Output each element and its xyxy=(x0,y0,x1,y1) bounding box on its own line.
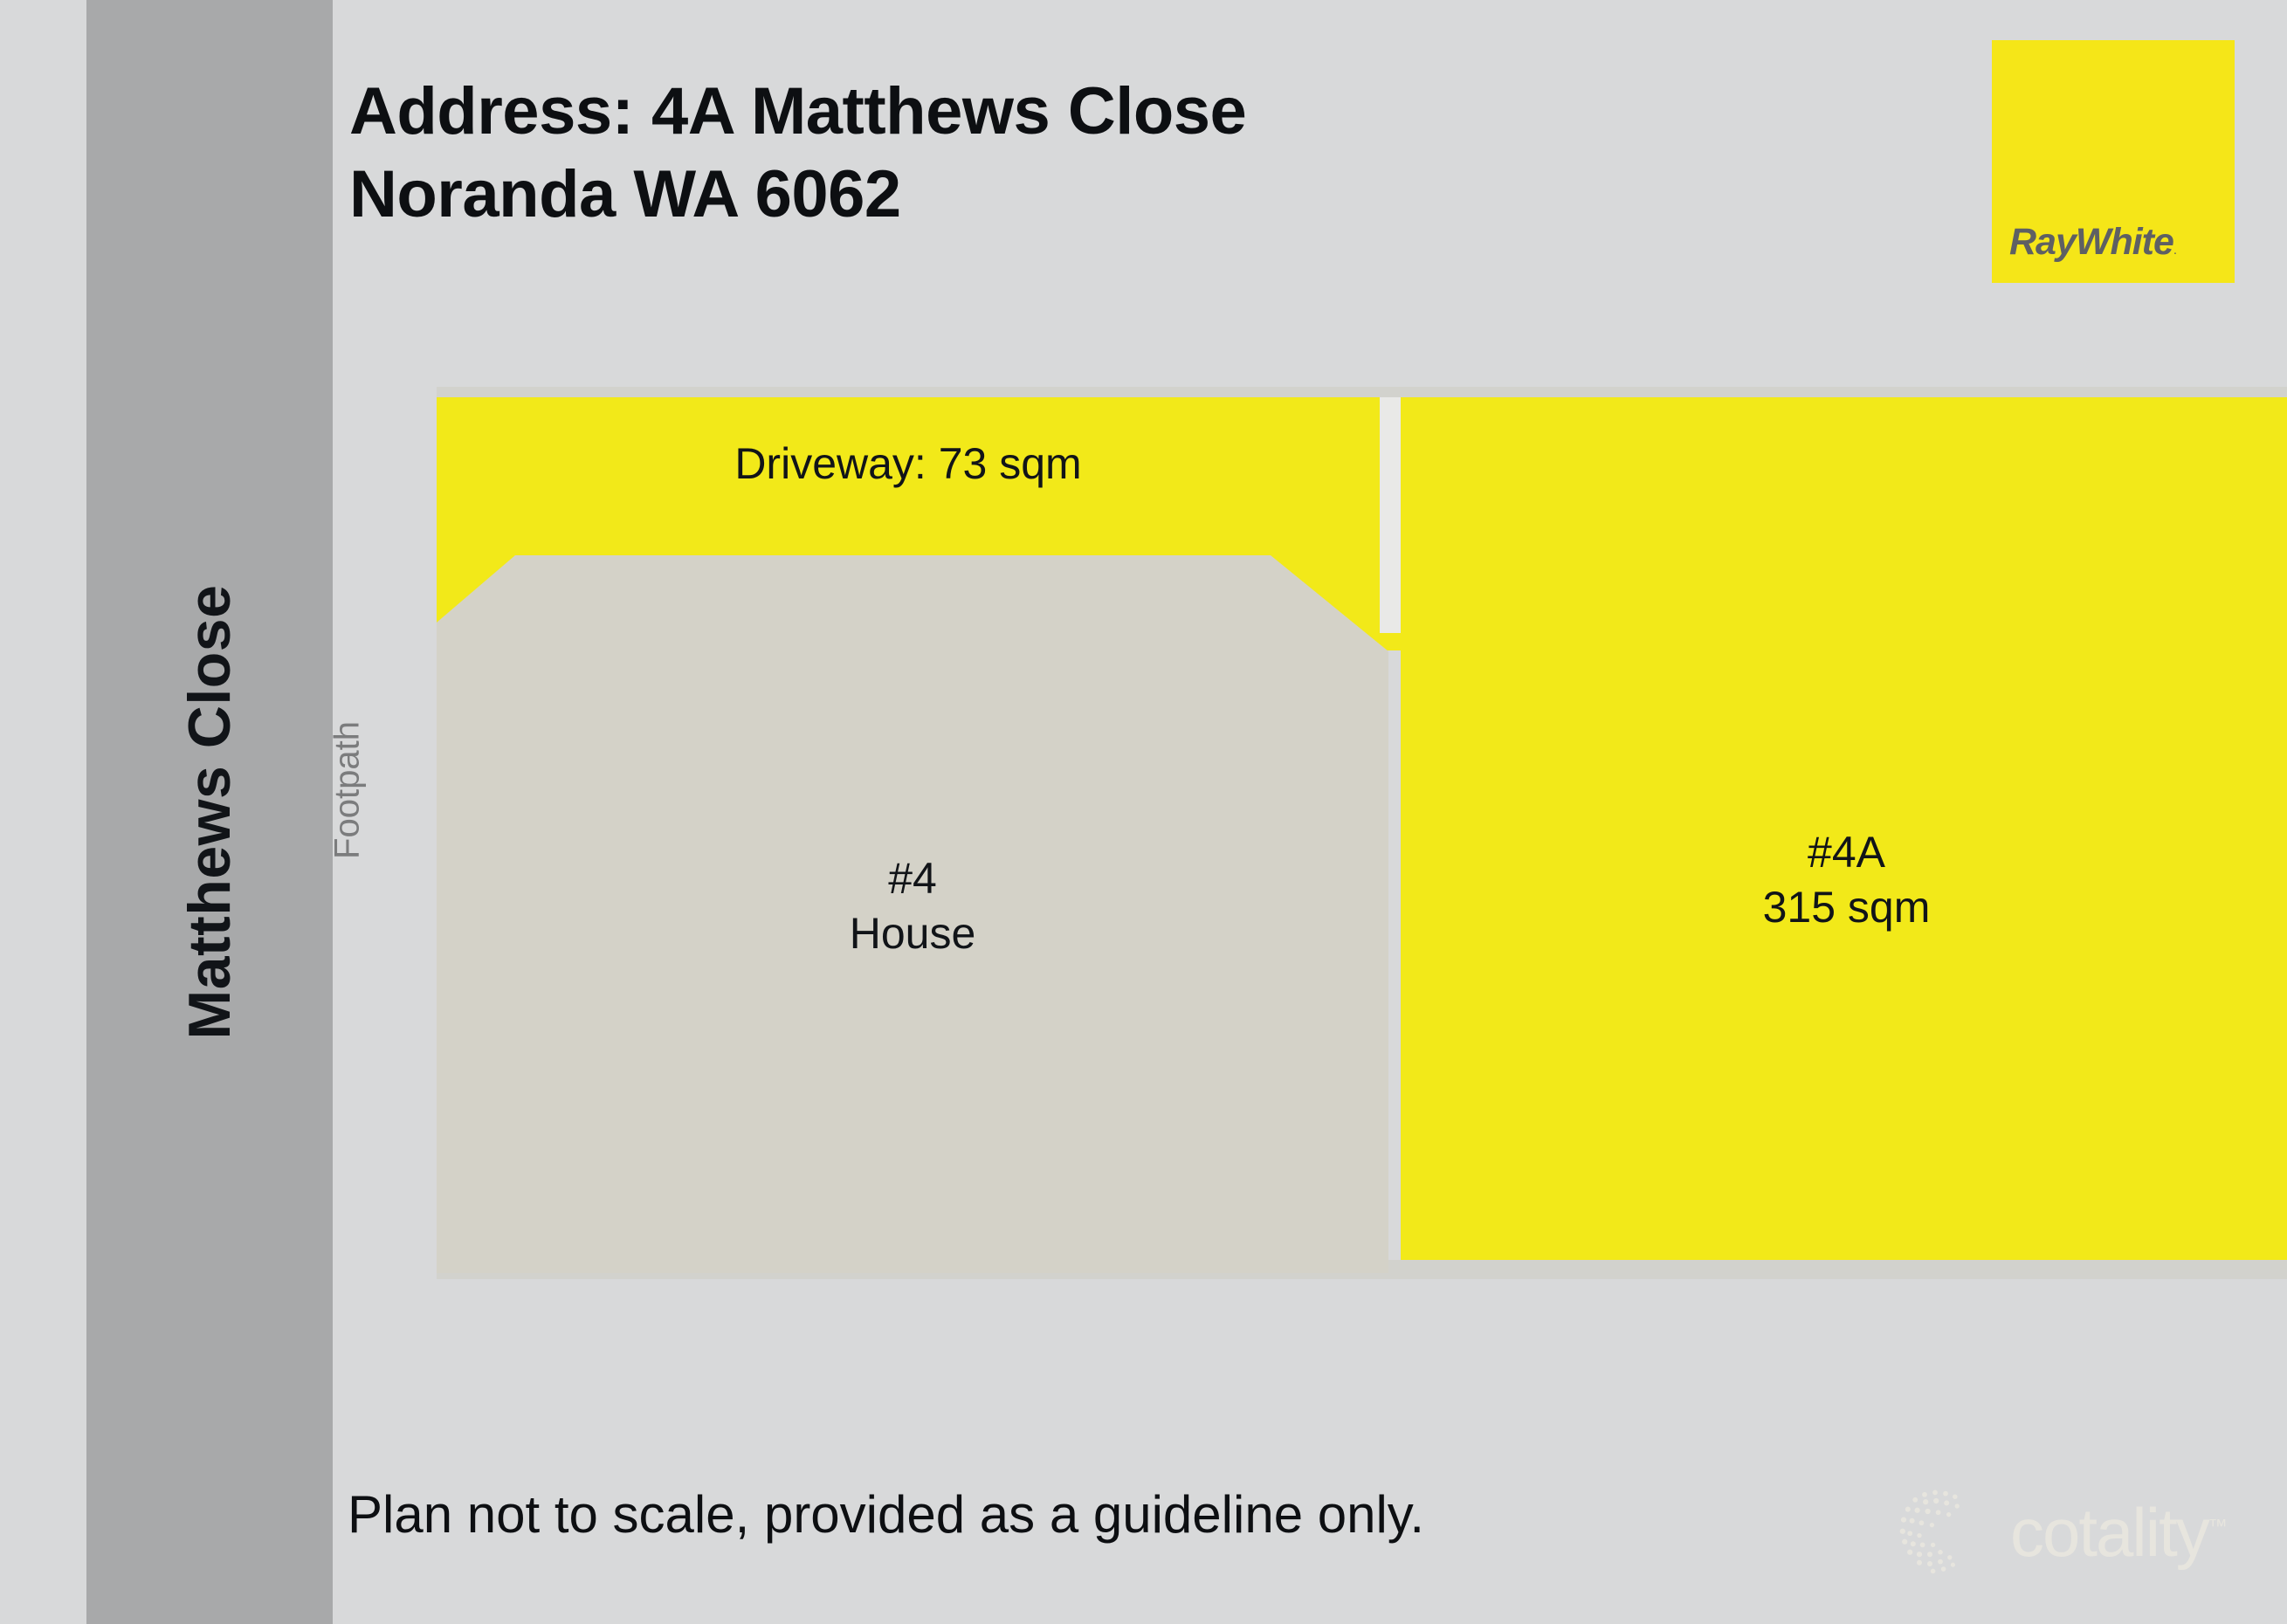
street-name-label: Matthews Close xyxy=(176,585,244,1040)
house-label: #4 House xyxy=(437,851,1388,961)
ray-white-logo: RayWhite. xyxy=(1992,40,2235,283)
lot-area-label: 315 sqm xyxy=(1406,880,2287,935)
registered-mark-icon: . xyxy=(2173,243,2176,258)
lot-label: #4A 315 sqm xyxy=(1406,825,2287,935)
disclaimer-note: Plan not to scale, provided as a guideli… xyxy=(348,1484,1424,1545)
street-band: Matthews Close xyxy=(86,0,333,1624)
cotality-watermark: cotality™ xyxy=(1893,1476,2277,1589)
house-number-label: #4 xyxy=(437,851,1388,906)
driveway-label-text: Driveway: 73 sqm xyxy=(437,437,1380,492)
site-plan-canvas: Matthews Close Footpath Address: 4A Matt… xyxy=(0,0,2287,1624)
footpath-label: Footpath xyxy=(328,721,368,859)
house-type-label: House xyxy=(437,906,1388,961)
page-title-line-1: Address: 4A Matthews Close xyxy=(349,70,1834,153)
cotality-swirl-icon xyxy=(1893,1480,1998,1585)
trademark-icon: ™ xyxy=(2208,1515,2226,1537)
page-title-line-2: Noranda WA 6062 xyxy=(349,153,1834,236)
cotality-wordmark: cotality™ xyxy=(2010,1498,2226,1566)
driveway-label: Driveway: 73 sqm xyxy=(437,437,1380,492)
boundary-gap xyxy=(1380,397,1401,633)
lot-number-label: #4A xyxy=(1406,825,2287,880)
cotality-wordmark-text: cotality xyxy=(2010,1494,2208,1571)
ray-white-wordmark: RayWhite xyxy=(2009,221,2173,263)
ray-white-logo-text: RayWhite. xyxy=(2009,221,2176,264)
page-title: Address: 4A Matthews Close Noranda WA 60… xyxy=(349,70,1834,236)
